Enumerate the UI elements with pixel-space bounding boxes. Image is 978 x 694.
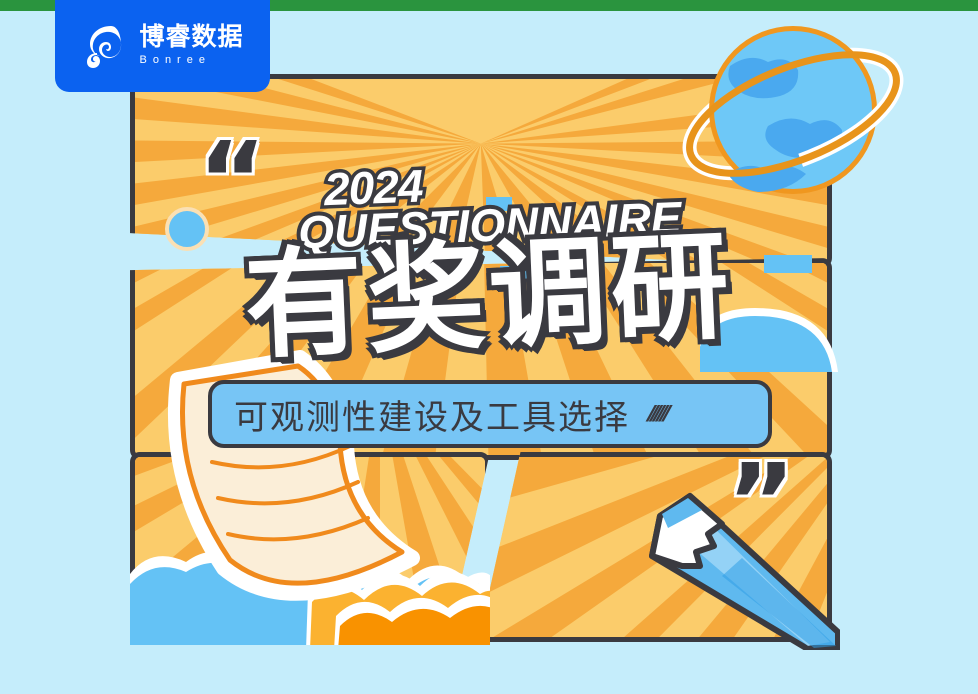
bonree-swirl-logo-icon <box>81 22 129 70</box>
brand-name-en: Bonree <box>139 53 243 67</box>
quote-close-mark: ” <box>727 450 795 554</box>
planet-with-ring-icon <box>648 14 938 214</box>
brand-text-block: 博睿数据 Bonree <box>139 24 243 68</box>
poster-stage: “ ” 2024 QUESTIONNAIRE 有奖调研 可观测性建设及工具选择 … <box>0 0 978 694</box>
subtitle-banner: 可观测性建设及工具选择 ////// <box>208 380 772 448</box>
brand-logo-badge[interactable]: 博睿数据 Bonree <box>55 0 270 92</box>
subtitle-slash-decor: ////// <box>643 401 671 427</box>
brand-name-cn: 博睿数据 <box>139 24 243 50</box>
subtitle-text: 可观测性建设及工具选择 <box>234 390 630 439</box>
